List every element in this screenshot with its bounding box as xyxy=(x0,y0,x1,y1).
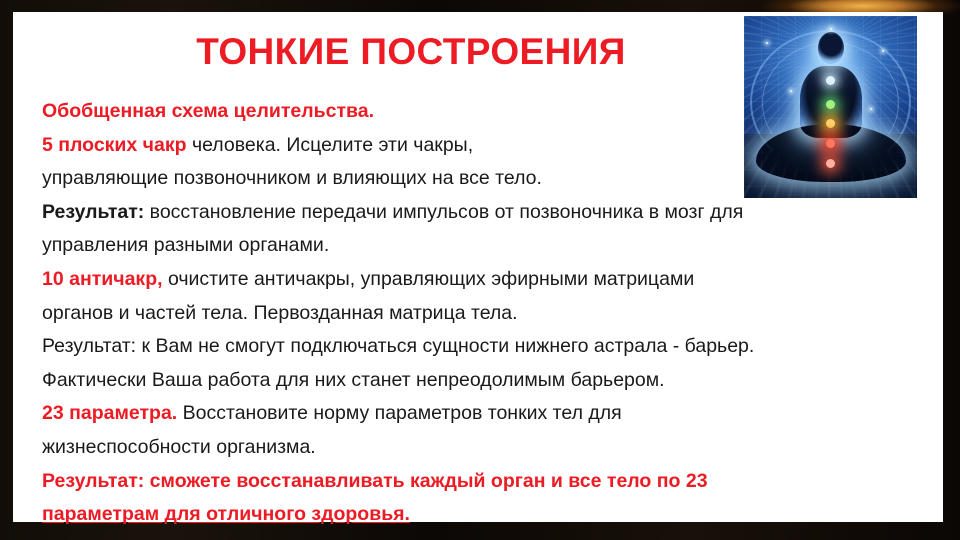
text-line: управляющие позвоночником и влияющих на … xyxy=(42,162,935,196)
text-line: жизнеспособности организма. xyxy=(42,431,935,465)
text-line: 10 античакр, очистите античакры, управля… xyxy=(42,263,935,297)
text-line: Результат: к Вам не смогут подключаться … xyxy=(42,330,935,364)
presentation-slide: ТОНКИЕ ПОСТРОЕНИЯ Обобщенная схема целит… xyxy=(0,0,960,540)
sparkle-icon xyxy=(766,42,768,44)
chakra-dot-throat xyxy=(826,76,835,85)
text-run: восстановление передачи импульсов от поз… xyxy=(144,201,743,223)
sparkle-icon xyxy=(882,50,884,52)
page-title: ТОНКИЕ ПОСТРОЕНИЯ xyxy=(141,30,681,74)
text-run: Восстановите норму параметров тонких тел… xyxy=(177,402,621,424)
text-run: человека. Исцелите эти чакры, xyxy=(187,134,474,156)
text-run: Обобщенная схема целительства. xyxy=(42,100,374,122)
text-run: управления разными органами. xyxy=(42,234,329,256)
text-line: органов и частей тела. Первозданная матр… xyxy=(42,297,935,331)
text-line: Обобщенная схема целительства. xyxy=(42,95,935,129)
text-run: Результат: xyxy=(42,201,144,223)
slide-content-panel: ТОНКИЕ ПОСТРОЕНИЯ Обобщенная схема целит… xyxy=(13,12,943,522)
head-silhouette xyxy=(818,32,844,64)
text-run: жизнеспособности организма. xyxy=(42,436,316,458)
text-run: параметрам для отличного здоровья. xyxy=(42,503,410,525)
sparkle-icon xyxy=(790,90,792,92)
text-run: очистите античакры, управляющих эфирными… xyxy=(163,268,695,290)
text-run: Результат: к Вам не смогут подключаться … xyxy=(42,335,754,357)
text-line: Результат: восстановление передачи импул… xyxy=(42,196,935,230)
text-line: 5 плоских чакр человека. Исцелите эти ча… xyxy=(42,129,935,163)
text-run: Фактически Ваша работа для них станет не… xyxy=(42,369,665,391)
text-run: органов и частей тела. Первозданная матр… xyxy=(42,302,518,324)
text-run: 5 плоских чакр xyxy=(42,134,187,156)
text-line: Результат: сможете восстанавливать кажды… xyxy=(42,465,935,499)
sparkle-icon xyxy=(830,28,832,30)
text-run: управляющие позвоночником и влияющих на … xyxy=(42,167,542,189)
text-line: параметрам для отличного здоровья. xyxy=(42,498,935,532)
text-line: управления разными органами. xyxy=(42,229,935,263)
slide-body-text: Обобщенная схема целительства.5 плоских … xyxy=(42,95,935,532)
text-run: 23 параметра. xyxy=(42,402,177,424)
text-run: 10 античакр, xyxy=(42,268,163,290)
text-line: 23 параметра. Восстановите норму парамет… xyxy=(42,397,935,431)
text-line: Фактически Ваша работа для них станет не… xyxy=(42,364,935,398)
text-run: Результат: сможете восстанавливать кажды… xyxy=(42,470,708,492)
